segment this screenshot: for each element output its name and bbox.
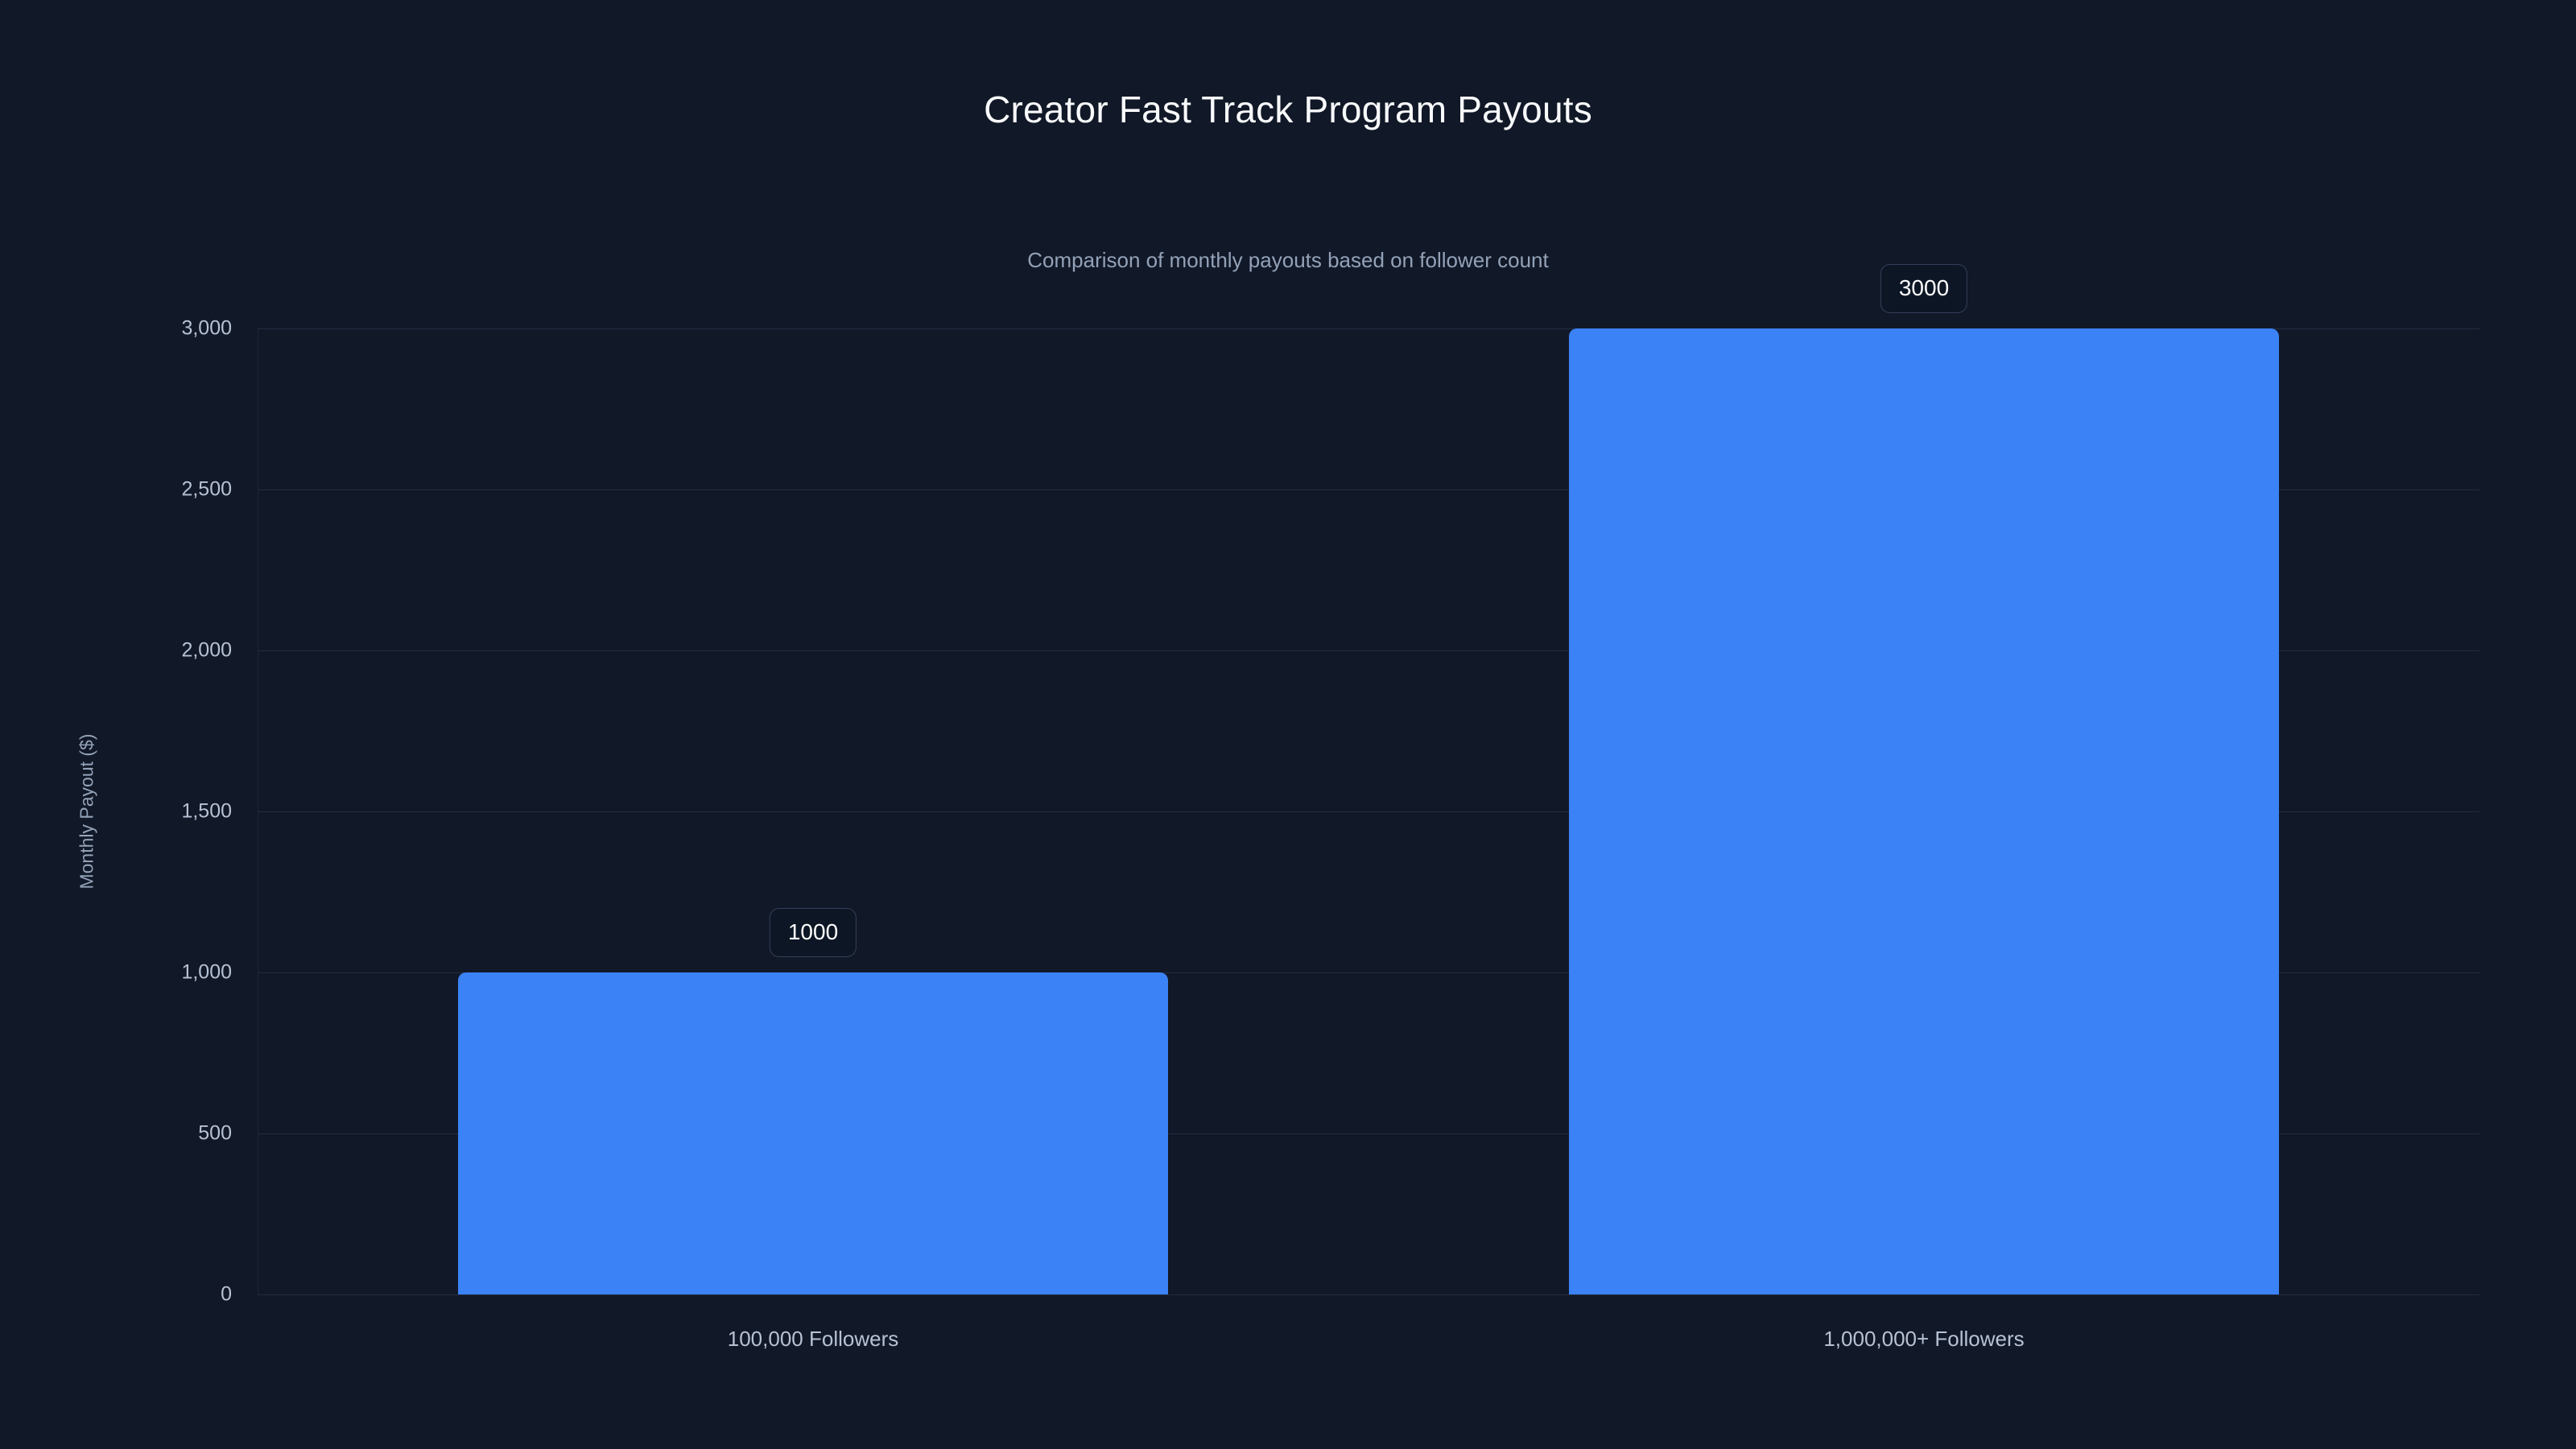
gridline — [258, 1294, 2479, 1295]
y-axis-tick-label: 1,500 — [39, 802, 232, 822]
x-axis-tick-label: 100,000 Followers — [728, 1328, 898, 1349]
bar-value-label: 1000 — [770, 908, 857, 957]
y-axis-tick-label: 500 — [39, 1124, 232, 1144]
y-axis-tick-label: 2,000 — [39, 641, 232, 661]
y-axis-tick-label: 1,000 — [39, 963, 232, 983]
chart-subtitle: Comparison of monthly payouts based on f… — [0, 250, 2576, 270]
x-axis-tick-label: 1,000,000+ Followers — [1823, 1328, 2024, 1349]
bar-value-label: 3000 — [1880, 264, 1967, 313]
bar[interactable] — [1569, 328, 2279, 1294]
chart-canvas: Creator Fast Track Program Payouts Compa… — [0, 0, 2576, 1449]
y-axis-tick-label: 3,000 — [39, 319, 232, 339]
bar[interactable] — [458, 972, 1168, 1294]
y-axis-tick-label: 2,500 — [39, 480, 232, 500]
page-title: Creator Fast Track Program Payouts — [0, 91, 2576, 128]
y-axis-tick-labels: 05001,0001,5002,0002,5003,000 — [32, 328, 232, 1294]
y-axis-tick-label: 0 — [39, 1285, 232, 1305]
